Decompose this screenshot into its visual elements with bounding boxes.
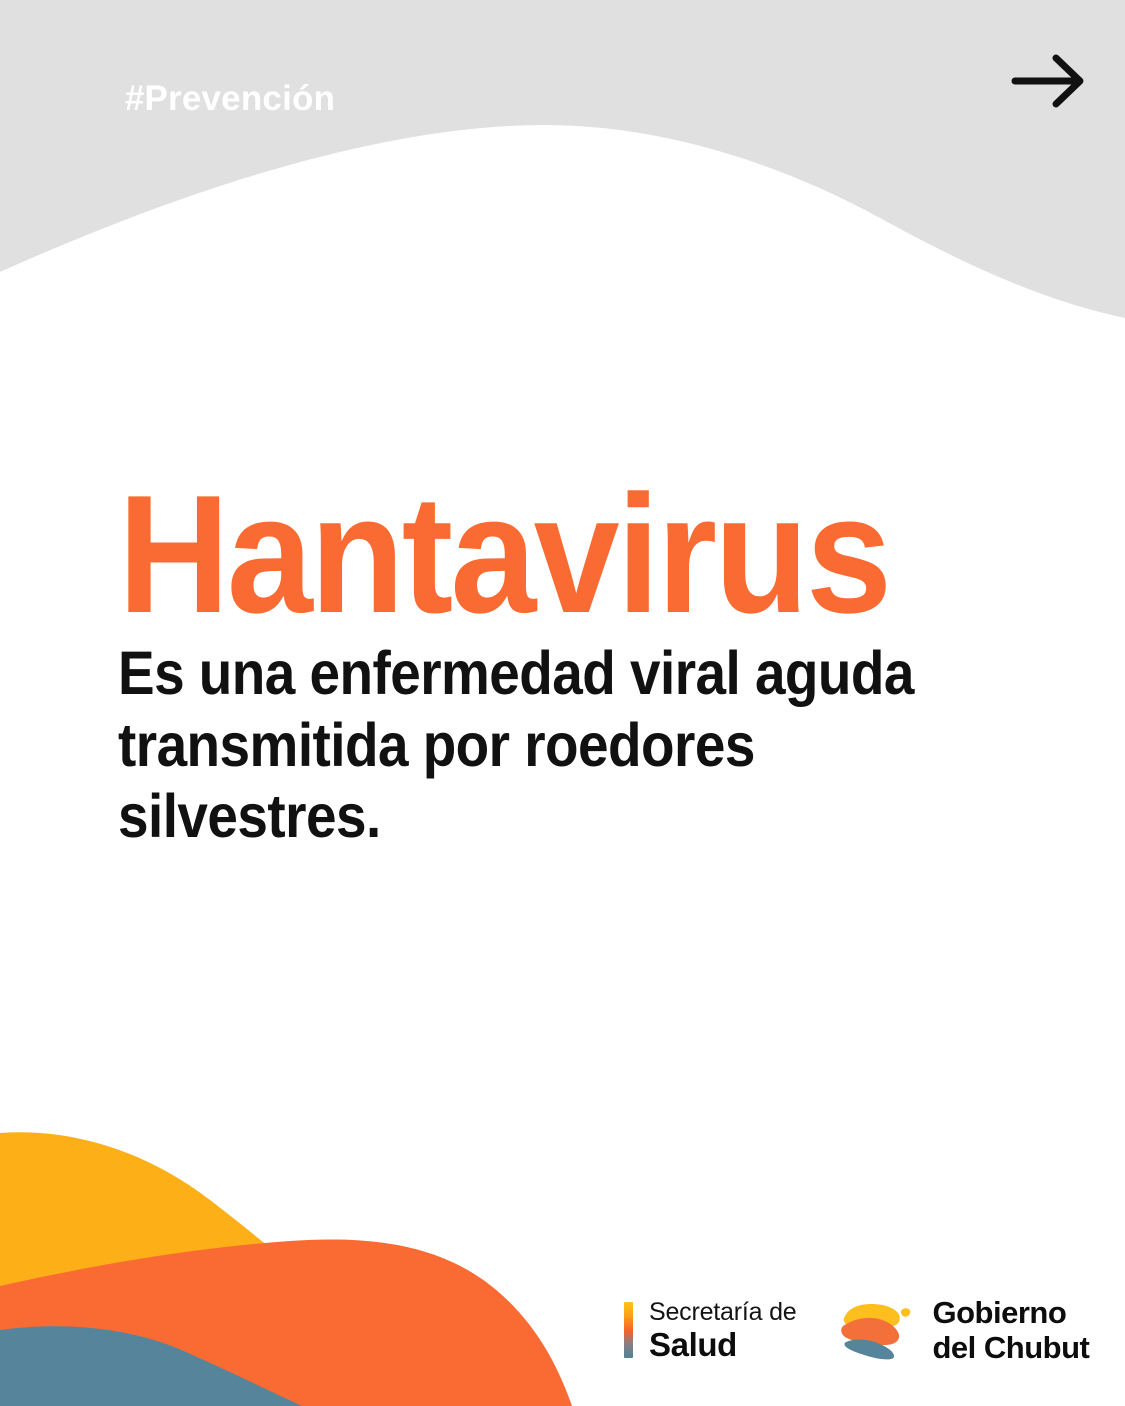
next-arrow-button[interactable] (1007, 50, 1091, 112)
subtitle: Es una enfermedad viral aguda transmitid… (118, 638, 928, 852)
chubut-line-2: del Chubut (933, 1331, 1090, 1366)
salud-line-2: Salud (649, 1327, 797, 1363)
salud-accent-bar (624, 1302, 633, 1358)
prevention-badge[interactable]: #Prevención (85, 55, 375, 141)
chubut-line-1: Gobierno (933, 1296, 1090, 1331)
chubut-text: Gobierno del Chubut (933, 1296, 1090, 1365)
salud-line-1: Secretaría de (649, 1298, 797, 1328)
footer-logos: Secretaría de Salud Gobierno del Chubut (624, 1296, 1089, 1365)
arrow-right-icon (1007, 50, 1091, 112)
salud-text: Secretaría de Salud (649, 1298, 797, 1364)
subtitle-line-3: silvestres. (118, 781, 928, 852)
gobierno-chubut-logo: Gobierno del Chubut (839, 1296, 1090, 1365)
secretaria-salud-logo: Secretaría de Salud (624, 1298, 797, 1364)
page-title: Hantavirus (118, 482, 946, 626)
chubut-brushstroke-icon (839, 1300, 915, 1362)
poster-canvas: #Prevención Hantavirus Es una enfermedad… (0, 0, 1125, 1406)
subtitle-line-2: transmitida por roedores (118, 710, 928, 781)
header-grey-band (0, 0, 1125, 318)
subtitle-line-1: Es una enfermedad viral aguda (118, 638, 928, 709)
headline-block: Hantavirus Es una enfermedad viral aguda… (118, 482, 1018, 853)
prevention-badge-label: #Prevención (125, 81, 335, 116)
